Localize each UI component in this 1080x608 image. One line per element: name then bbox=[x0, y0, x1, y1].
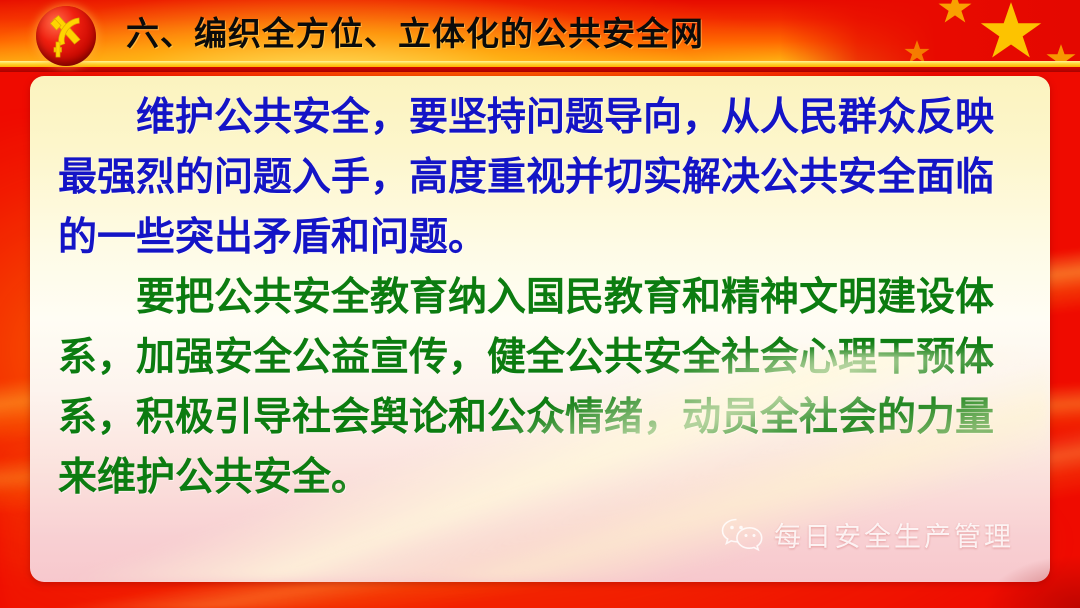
flag-star-icon bbox=[938, 0, 972, 25]
page-title: 六、编织全方位、立体化的公共安全网 bbox=[126, 12, 704, 56]
slide-canvas: 六、编织全方位、立体化的公共安全网 维护公共安全，要坚持问题导向，从人民群众反映… bbox=[0, 0, 1080, 608]
wechat-icon bbox=[720, 516, 764, 554]
paragraph-green: 要把公共安全教育纳入国民教育和精神文明建设体系，加强安全公益宣传，健全公共安全社… bbox=[58, 268, 1022, 508]
body-text-block: 维护公共安全，要坚持问题导向，从人民群众反映最强烈的问题入手，高度重视并切实解决… bbox=[30, 76, 1050, 508]
watermark: 每日安全生产管理 bbox=[720, 515, 1014, 554]
watermark-text: 每日安全生产管理 bbox=[774, 515, 1014, 554]
corner-shadow bbox=[985, 556, 1080, 608]
flag-star-icon bbox=[980, 2, 1042, 62]
slide-header: 六、编织全方位、立体化的公共安全网 bbox=[0, 0, 1080, 72]
paragraph-blue: 维护公共安全，要坚持问题导向，从人民群众反映最强烈的问题入手，高度重视并切实解决… bbox=[58, 88, 1022, 268]
header-red-divider bbox=[0, 67, 1080, 72]
content-panel: 维护公共安全，要坚持问题导向，从人民群众反映最强烈的问题入手，高度重视并切实解决… bbox=[30, 76, 1050, 582]
party-emblem-icon bbox=[36, 6, 96, 66]
